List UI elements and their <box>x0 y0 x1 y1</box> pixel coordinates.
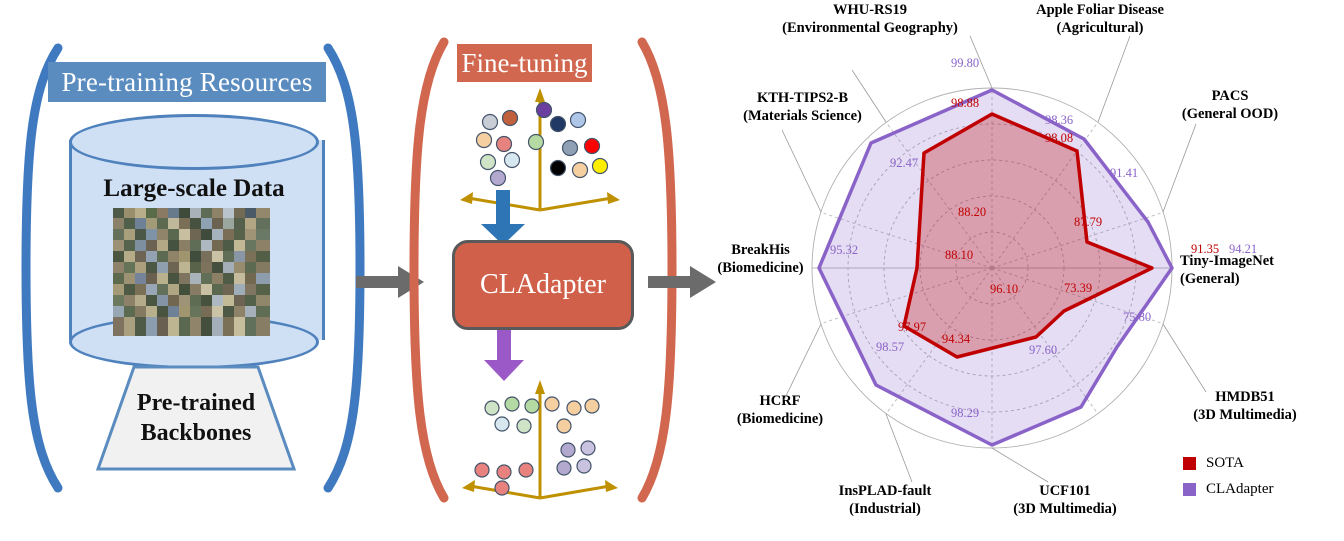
fine-tuning-title: Fine-tuning <box>457 44 592 82</box>
axis-label-hcrf-name: HCRF <box>690 393 870 411</box>
database-cylinder-top <box>69 114 319 170</box>
axis-label-kth-tips2-b: KTH-TIPS2-B (Materials Science) <box>695 90 910 125</box>
legend-item-cladapter[interactable]: CLAdapter <box>1183 481 1273 498</box>
axis-label-kth-name: KTH-TIPS2-B <box>695 90 910 108</box>
legend-item-sota[interactable]: SOTA <box>1183 455 1273 472</box>
axis-label-breakhis-name: BreakHis <box>688 242 833 260</box>
figure-canvas: Pre-training Resources Large-scale Data <box>0 0 1344 536</box>
axis-label-pacs: PACS (General OOD) <box>1140 88 1320 123</box>
axis-label-hmdb51: HMDB51 (3D Multimedia) <box>1150 389 1340 424</box>
axis-label-breakhis-domain: (Biomedicine) <box>688 260 833 278</box>
value-insplad-cladapter: 98.29 <box>951 406 979 421</box>
value-apple-cladapter: 98.36 <box>1045 113 1073 128</box>
legend-swatch-cladapter <box>1183 483 1196 496</box>
cladapter-label: CLAdapter <box>480 269 606 301</box>
value-breakhis-cladapter: 95.32 <box>830 243 858 258</box>
axis-label-ucf-domain: (3D Multimedia) <box>970 501 1160 519</box>
value-tiny-sota: 91.35 <box>1191 242 1219 257</box>
large-scale-data-label: Large-scale Data <box>69 175 319 203</box>
value-ucf-cladapter: 97.60 <box>1029 343 1057 358</box>
value-hmdb-sota: 73.39 <box>1064 281 1092 296</box>
value-insplad-sota: 94.34 <box>942 332 970 347</box>
axis-label-insplad-domain: (Industrial) <box>790 501 980 519</box>
axis-label-pacs-name: PACS <box>1140 88 1320 106</box>
axis-label-ucf-name: UCF101 <box>970 483 1160 501</box>
axis-label-hcrf: HCRF (Biomedicine) <box>690 393 870 428</box>
value-kth-cladapter: 92.47 <box>890 156 918 171</box>
value-pacs-sota: 87.79 <box>1074 215 1102 230</box>
axis-label-tiny-imagenet: Tiny-ImageNet (General) <box>1180 253 1344 288</box>
axis-label-apple-name: Apple Foliar Disease <box>970 2 1230 20</box>
value-whu-cladapter: 99.80 <box>951 56 979 71</box>
value-hcrf-sota: 97.97 <box>898 320 926 335</box>
axis-label-apple-foliar-disease: Apple Foliar Disease (Agricultural) <box>970 2 1230 37</box>
chart-legend: SOTA CLAdapter <box>1183 455 1273 507</box>
value-tiny-cladapter: 94.21 <box>1229 242 1257 257</box>
adapter-output-arrow-icon <box>481 330 527 382</box>
dataset-thumbnail-mosaic <box>113 208 270 336</box>
axis-label-hmdb-name: HMDB51 <box>1150 389 1340 407</box>
pre-adaptation-feature-scatter <box>440 82 640 222</box>
axis-label-tiny-domain: (General) <box>1180 271 1344 289</box>
axis-label-ucf101: UCF101 (3D Multimedia) <box>970 483 1160 518</box>
fine-tuning-down-arrow-icon <box>477 190 529 246</box>
backbones-line-1: Pre-trained <box>96 388 296 418</box>
legend-label-cladapter: CLAdapter <box>1206 481 1273 498</box>
axis-label-hmdb-domain: (3D Multimedia) <box>1150 407 1340 425</box>
pre-trained-backbones-label: Pre-trained Backbones <box>96 388 296 448</box>
axis-label-pacs-domain: (General OOD) <box>1140 106 1320 124</box>
legend-swatch-sota <box>1183 457 1196 470</box>
axis-label-kth-domain: (Materials Science) <box>695 108 910 126</box>
value-pacs-cladapter: 91.41 <box>1110 166 1138 181</box>
value-breakhis-sota: 88.10 <box>945 248 973 263</box>
value-hcrf-cladapter: 98.57 <box>876 340 904 355</box>
axis-label-insplad-name: InsPLAD-fault <box>790 483 980 501</box>
legend-label-sota: SOTA <box>1206 455 1244 472</box>
pre-training-resources-title: Pre-training Resources <box>48 62 326 102</box>
post-adaptation-feature-scatter <box>440 378 640 510</box>
cladapter-module[interactable]: CLAdapter <box>452 240 634 330</box>
value-kth-sota: 88.20 <box>958 205 986 220</box>
backbones-line-2: Backbones <box>96 418 296 448</box>
value-apple-sota: 98.08 <box>1045 131 1073 146</box>
axis-label-breakhis: BreakHis (Biomedicine) <box>688 242 833 277</box>
value-whu-sota: 98.88 <box>951 96 979 111</box>
axis-label-insplad-fault: InsPLAD-fault (Industrial) <box>790 483 980 518</box>
value-hmdb-cladapter: 75.80 <box>1123 310 1151 325</box>
axis-label-hcrf-domain: (Biomedicine) <box>690 411 870 429</box>
axis-label-apple-domain: (Agricultural) <box>970 20 1230 38</box>
value-ucf-sota: 96.10 <box>990 282 1018 297</box>
